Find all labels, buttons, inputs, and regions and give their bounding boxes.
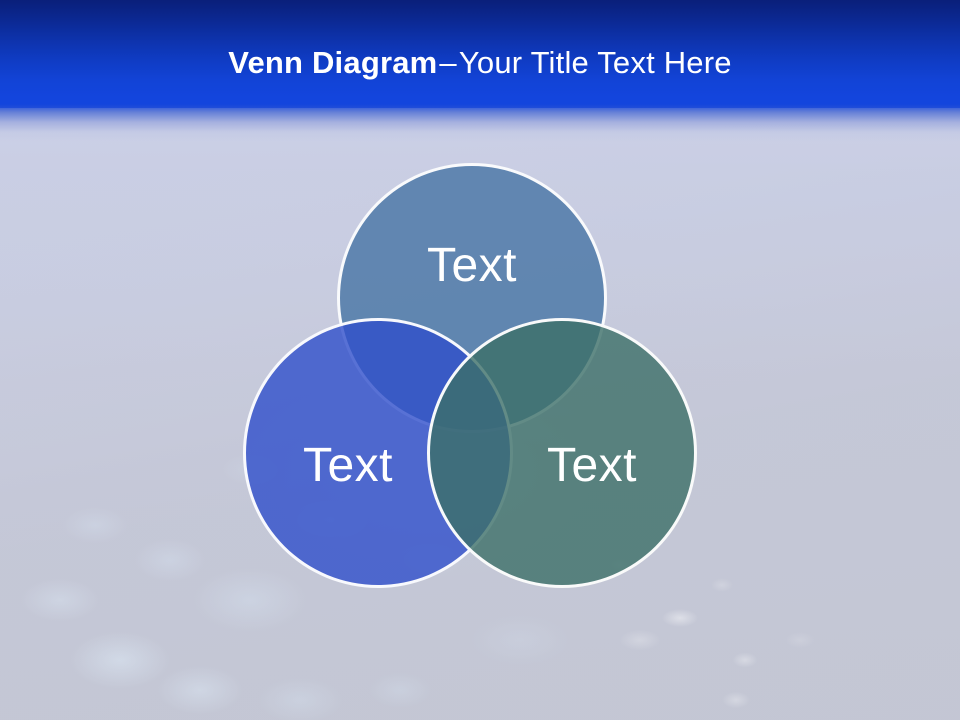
venn-label-bottom-left[interactable]: Text <box>243 438 453 493</box>
slide-canvas: Venn Diagram – Your Title Text Here Text… <box>0 0 960 720</box>
venn-diagram: Text Text Text <box>0 0 960 720</box>
venn-label-bottom-right[interactable]: Text <box>487 438 697 493</box>
venn-label-top[interactable]: Text <box>337 238 607 293</box>
